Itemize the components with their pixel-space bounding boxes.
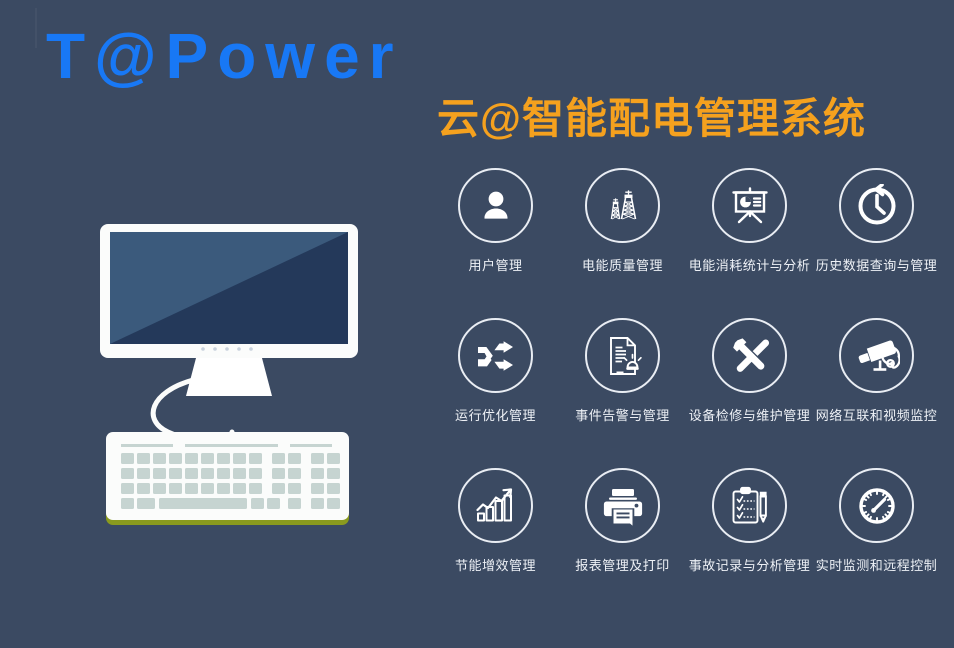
feature-item-video-surveillance[interactable]: 网络互联和视频监控 [813,318,940,468]
feature-label: 用户管理 [468,259,522,272]
power-tower-icon [585,168,660,243]
gauge-icon [839,468,914,543]
feature-label: 电能消耗统计与分析 [689,259,811,272]
feature-item-consumption-analysis[interactable]: 电能消耗统计与分析 [686,168,813,318]
monitor-stand [186,358,272,396]
feature-label: 节能增效管理 [455,559,536,572]
clipboard-pen-icon [712,468,787,543]
feature-item-event-alarm[interactable]: 事件告警与管理 [559,318,686,468]
feature-label: 网络互联和视频监控 [816,409,938,422]
feature-item-user-management[interactable]: 用户管理 [432,168,559,318]
shuffle-arrows-icon [458,318,533,393]
keyboard [106,432,349,525]
user-icon [458,168,533,243]
feature-item-realtime-monitoring[interactable]: 实时监测和远程控制 [813,468,940,618]
feature-item-maintenance[interactable]: 设备检修与维护管理 [686,318,813,468]
feature-label: 实时监测和远程控制 [816,559,938,572]
feature-item-operation-optimization[interactable]: 运行优化管理 [432,318,559,468]
computer-illustration [0,0,420,600]
growth-bar-chart-icon [458,468,533,543]
feature-label: 历史数据查询与管理 [816,259,938,272]
feature-item-report-print[interactable]: 报表管理及打印 [559,468,686,618]
feature-item-energy-saving[interactable]: 节能增效管理 [432,468,559,618]
feature-label: 事故记录与分析管理 [689,559,811,572]
feature-item-incident-records[interactable]: 事故记录与分析管理 [686,468,813,618]
feature-grid: 用户管理 电能质量管理 [432,168,940,618]
clock-history-icon [839,168,914,243]
feature-label: 报表管理及打印 [575,559,670,572]
feature-label: 设备检修与维护管理 [689,409,811,422]
keyboard-status-strips [121,444,332,447]
security-camera-at-icon [839,318,914,393]
presentation-chart-icon [712,168,787,243]
printer-icon [585,468,660,543]
feature-item-history-data[interactable]: 历史数据查询与管理 [813,168,940,318]
feature-label: 运行优化管理 [455,409,536,422]
document-alarm-icon [585,318,660,393]
feature-label: 事件告警与管理 [575,409,670,422]
feature-item-power-quality[interactable]: 电能质量管理 [559,168,686,318]
desktop-monitor [100,224,358,396]
feature-label: 电能质量管理 [582,259,663,272]
page-title: 云@智能配电管理系统 [437,96,866,142]
wrench-screwdriver-icon [712,318,787,393]
poster-canvas: T@Power 云@智能配电管理系统 [0,0,954,648]
